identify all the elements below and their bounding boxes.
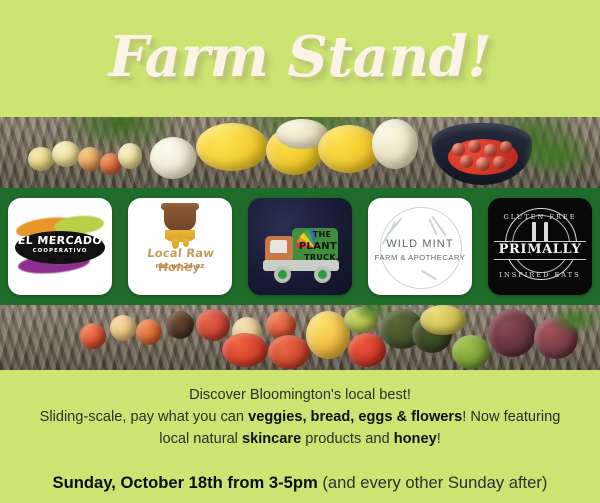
copy-line-2a: Sliding-scale, pay what you can: [40, 409, 248, 425]
copy-line-3: local natural skincare products and hone…: [14, 428, 586, 450]
vendor-logo-primally[interactable]: GLUTEN FREE PRIMALLY INSPIRED EATS: [488, 198, 592, 295]
plant-truck-line3: TRUCK: [248, 253, 352, 262]
schedule-recurrence: (and every other Sunday after): [318, 473, 548, 492]
el-mercado-name: EL MERCADO: [8, 234, 112, 247]
truck-wheel-icon: [314, 266, 331, 283]
copy-highlight-produce: veggies, bread, eggs & flowers: [248, 409, 462, 425]
vendor-logo-local-raw-honey[interactable]: Local Raw Honey net wt 24 oz: [128, 198, 232, 295]
copy-highlight-honey: honey: [394, 431, 437, 447]
farm-stand-flyer: Farm Stand!: [0, 0, 600, 503]
title-zone: Farm Stand!: [0, 0, 600, 117]
copy-highlight-skincare: skincare: [242, 431, 301, 447]
vendor-logo-wild-mint[interactable]: WILD MINT FARM & APOTHECARY: [368, 198, 472, 295]
copy-line-3a: local natural: [159, 431, 242, 447]
primally-arc-top: GLUTEN FREE: [488, 213, 592, 221]
page-title: Farm Stand!: [109, 24, 492, 90]
wild-mint-subtitle: FARM & APOTHECARY: [368, 253, 472, 262]
foliage-accents: [0, 305, 600, 370]
primally-arc-bottom: INSPIRED EATS: [488, 271, 592, 279]
honey-subtitle: net wt 24 oz: [128, 262, 232, 270]
copy-line-3e: !: [437, 431, 441, 447]
schedule-datetime: Sunday, October 18th from 3-5pm: [53, 473, 318, 492]
produce-photo-top: [0, 117, 600, 188]
copy-line-3c: products and: [301, 431, 394, 447]
truck-wheel-icon: [274, 266, 291, 283]
plant-truck-line2: PLANT: [248, 241, 352, 252]
honey-drip: [165, 230, 195, 242]
plant-truck-line1: THE: [248, 230, 352, 239]
description-copy: Discover Bloomington's local best! Slidi…: [0, 370, 600, 493]
copy-line-1: Discover Bloomington's local best!: [14, 384, 586, 406]
primally-name: PRIMALLY: [488, 242, 592, 257]
vendor-logo-strip: EL MERCADO COOPERATIVO Local Raw Honey n…: [0, 188, 600, 305]
schedule-line: Sunday, October 18th from 3-5pm (and eve…: [14, 473, 586, 493]
copy-line-2: Sliding-scale, pay what you can veggies,…: [14, 406, 586, 428]
honey-pot-icon: [164, 206, 196, 232]
vendor-logo-the-plant-truck[interactable]: THE PLANT TRUCK: [248, 198, 352, 295]
produce-photo-bottom: [0, 305, 600, 370]
wild-mint-name: WILD MINT: [368, 238, 472, 250]
el-mercado-subtitle: COOPERATIVO: [8, 248, 112, 254]
foliage-right: [0, 117, 600, 188]
copy-line-2c: ! Now featuring: [462, 409, 560, 425]
vendor-logo-el-mercado[interactable]: EL MERCADO COOPERATIVO: [8, 198, 112, 295]
